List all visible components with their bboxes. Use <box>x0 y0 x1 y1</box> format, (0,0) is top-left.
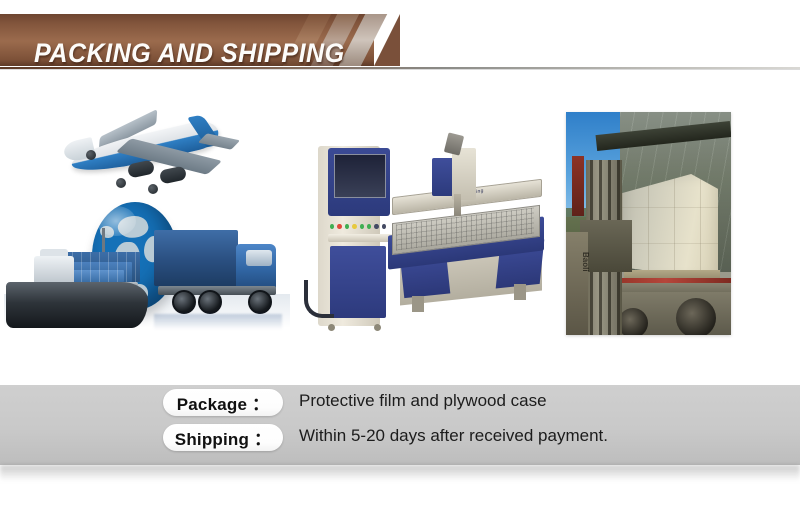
info-row-package: Package ： Protective film and plywood ca… <box>0 389 800 417</box>
page-title: PACKING AND SHIPPING <box>34 38 345 69</box>
shipping-label: Shipping ： <box>175 425 271 450</box>
airplane-icon <box>56 104 246 204</box>
logistics-illustration <box>4 96 290 346</box>
package-label: Package ： <box>177 390 270 415</box>
info-band-shadow <box>0 465 800 481</box>
forklift-brand-text: Baoli <box>581 252 590 272</box>
cnc-button-row <box>330 222 386 230</box>
semi-truck-icon <box>154 222 286 338</box>
container-ship-icon <box>6 224 156 334</box>
header-banner: PACKING AND SHIPPING <box>0 14 800 66</box>
packing-and-shipping-page: PACKING AND SHIPPING <box>0 0 800 511</box>
cnc-screen <box>334 154 386 198</box>
info-row-shipping: Shipping ： Within 5-20 days after receiv… <box>0 424 800 452</box>
cnc-machine-photo: CNC nesting <box>300 130 562 342</box>
gallery-row: CNC nesting Baoli <box>0 78 800 378</box>
package-value: Protective film and plywood case <box>299 391 547 411</box>
header-divider-soft <box>0 69 800 70</box>
shipping-value: Within 5-20 days after received payment. <box>299 426 608 446</box>
shipping-label-pill: Shipping ： <box>163 424 283 451</box>
package-label-pill: Package ： <box>163 389 283 416</box>
forklift-loading-photo: Baoli <box>566 112 731 335</box>
